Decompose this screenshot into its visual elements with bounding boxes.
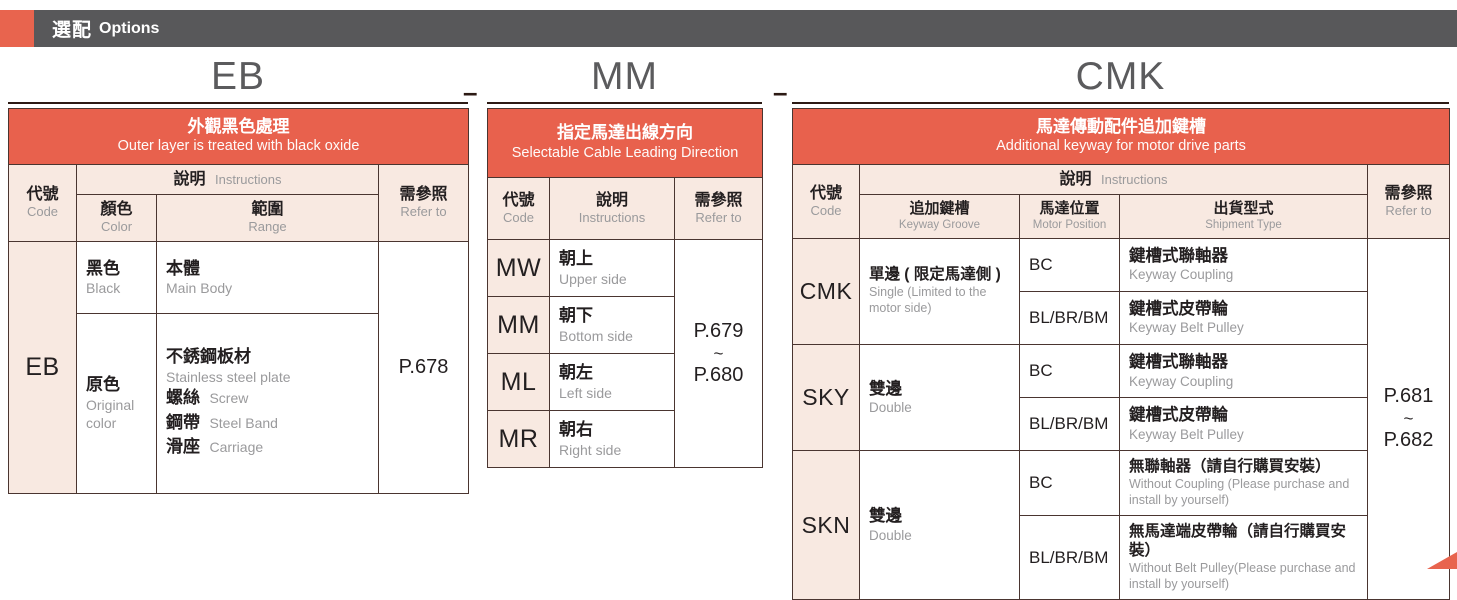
section-title-eb: EB xyxy=(8,52,468,102)
corner-triangle-decoration xyxy=(1427,552,1457,569)
table-row: MW 朝上 Upper side P.679 ~ P.680 xyxy=(488,240,763,297)
header-instructions-cjk: 說明 xyxy=(553,191,671,210)
header-keyway-groove: 追加鍵槽 Keyway Groove xyxy=(860,195,1020,238)
range-item-3: 滑座 Carriage xyxy=(166,436,369,460)
header-color-en: Color xyxy=(80,219,153,235)
range-item-1: 螺絲 Screw xyxy=(166,387,369,411)
table-mm-title-cjk: 指定馬達出線方向 xyxy=(492,122,758,143)
cell-motorpos-sky-bc: BC xyxy=(1020,345,1120,398)
table-eb-title-cjk: 外觀黑色處理 xyxy=(13,116,464,137)
cell-color-black: 黑色 Black xyxy=(77,241,157,313)
range-item-2-cjk: 鋼帶 xyxy=(166,413,200,432)
cell-keyway-cmk-en: Single (Limited to the motor side) xyxy=(869,285,1010,316)
header-motorpos-en: Motor Position xyxy=(1023,218,1116,232)
options-banner: 選配 Options xyxy=(0,10,1457,47)
header-shipment-en: Shipment Type xyxy=(1123,218,1364,232)
table-cmk-header-row-2: 追加鍵槽 Keyway Groove 馬達位置 Motor Position 出… xyxy=(793,195,1450,238)
header-code-en: Code xyxy=(491,210,546,226)
cell-direction-mw-en: Upper side xyxy=(559,270,665,288)
header-range-cjk: 範圍 xyxy=(160,200,375,219)
header-code: 代號 Code xyxy=(9,165,77,242)
table-eb: 外觀黑色處理 Outer layer is treated with black… xyxy=(8,108,468,468)
banner-title-cjk: 選配 xyxy=(52,15,92,42)
cell-shipment-sky-blbrbm-cjk: 鍵槽式皮帶輪 xyxy=(1129,405,1358,426)
cell-color-original-en: Original color xyxy=(86,396,147,432)
banner-title-en: Options xyxy=(99,20,159,38)
header-refer-cjk: 需參照 xyxy=(1371,184,1446,203)
cell-keyway-skn-cjk: 雙邊 xyxy=(869,506,1010,527)
cell-shipment-cmk-blbrbm-cjk: 鍵槽式皮帶輪 xyxy=(1129,299,1358,320)
header-refer-cjk: 需參照 xyxy=(678,191,759,210)
table-mm-title-row: 指定馬達出線方向 Selectable Cable Leading Direct… xyxy=(488,109,763,178)
cell-keyway-sky-en: Double xyxy=(869,399,1010,417)
cell-motorpos-cmk-blbrbm: BL/BR/BM xyxy=(1020,291,1120,344)
header-refer-en: Refer to xyxy=(678,210,759,226)
refer-from: P.679 xyxy=(694,320,744,342)
range-item-3-cjk: 滑座 xyxy=(166,437,200,456)
header-refer-to: 需參照 Refer to xyxy=(379,165,469,242)
header-instructions-en: Instructions xyxy=(215,172,281,187)
section-rule-eb xyxy=(8,102,468,104)
cell-shipment-cmk-bc: 鍵槽式聯軸器 Keyway Coupling xyxy=(1120,238,1368,291)
header-instructions-cjk: 說明 xyxy=(1060,171,1092,188)
header-refer-en: Refer to xyxy=(382,204,465,220)
table-eb-header-row-1: 代號 Code 說明 Instructions 需參照 Refer to xyxy=(9,165,469,195)
table-eb-title-en: Outer layer is treated with black oxide xyxy=(13,137,464,156)
cell-motorpos-sky-blbrbm: BL/BR/BM xyxy=(1020,398,1120,451)
separator-dash-1: – xyxy=(463,79,477,105)
header-motorpos-cjk: 馬達位置 xyxy=(1023,200,1116,218)
section-titles-row: EB – MM – CMK xyxy=(0,52,1457,104)
range-item-0-en: Stainless steel plate xyxy=(166,368,369,386)
cell-keyway-cmk-cjk: 單邊 ( 限定馬達側 ) xyxy=(869,266,1010,285)
cell-motorpos-skn-blbrbm: BL/BR/BM xyxy=(1020,516,1120,600)
header-instructions: 說明 Instructions xyxy=(77,165,379,195)
cell-shipment-sky-bc-cjk: 鍵槽式聯軸器 xyxy=(1129,352,1358,373)
cell-range-mainbody-en: Main Body xyxy=(166,279,369,297)
cell-direction-mr-cjk: 朝右 xyxy=(559,419,665,440)
cell-shipment-cmk-blbrbm-en: Keyway Belt Pulley xyxy=(1129,319,1358,337)
cell-refer-mm: P.679 ~ P.680 xyxy=(675,240,763,468)
refer-to: P.682 xyxy=(1384,429,1434,451)
range-item-2: 鋼帶 Steel Band xyxy=(166,412,369,436)
cell-shipment-sky-bc-en: Keyway Coupling xyxy=(1129,373,1358,391)
cell-keyway-sky-cjk: 雙邊 xyxy=(869,379,1010,400)
table-mm-header-row: 代號 Code 說明 Instructions 需參照 Refer to xyxy=(488,178,763,240)
header-code: 代號 Code xyxy=(793,165,860,239)
header-code-en: Code xyxy=(796,203,856,219)
banner-accent-block xyxy=(0,10,34,47)
table-cmk-title-cell: 馬達傳動配件追加鍵槽 Additional keyway for motor d… xyxy=(793,109,1450,165)
cell-motorpos-cmk-bc: BC xyxy=(1020,238,1120,291)
header-color: 顏色 Color xyxy=(77,195,157,241)
range-item-1-en: Screw xyxy=(209,390,248,406)
header-color-cjk: 顏色 xyxy=(80,200,153,219)
header-instructions: 說明 Instructions xyxy=(550,178,675,240)
cell-motorpos-skn-bc: BC xyxy=(1020,451,1120,516)
table-cmk-title-row: 馬達傳動配件追加鍵槽 Additional keyway for motor d… xyxy=(793,109,1450,165)
header-instructions-en: Instructions xyxy=(553,210,671,226)
range-item-1-cjk: 螺絲 xyxy=(166,388,200,407)
cell-color-black-en: Black xyxy=(86,279,147,297)
header-code: 代號 Code xyxy=(488,178,550,240)
header-refer-to: 需參照 Refer to xyxy=(1368,165,1450,239)
table-cmk: 馬達傳動配件追加鍵槽 Additional keyway for motor d… xyxy=(792,108,1449,560)
cell-code-ml: ML xyxy=(488,354,550,411)
cell-range-mainbody: 本體 Main Body xyxy=(157,241,379,313)
header-shipment-type: 出貨型式 Shipment Type xyxy=(1120,195,1368,238)
cell-direction-mm: 朝下 Bottom side xyxy=(550,297,675,354)
table-mm-title-en: Selectable Cable Leading Direction xyxy=(492,144,758,163)
cell-code-eb: EB xyxy=(9,241,77,493)
table-row: SKY 雙邊 Double BC 鍵槽式聯軸器 Keyway Coupling xyxy=(793,345,1450,398)
cell-shipment-skn-blbrbm: 無馬達端皮帶輪（請自行購買安裝） Without Belt Pulley(Ple… xyxy=(1120,516,1368,600)
cell-direction-ml-en: Left side xyxy=(559,384,665,402)
table-row: SKN 雙邊 Double BC 無聯軸器（請自行購買安裝） Without C… xyxy=(793,451,1450,516)
table-cmk-title-en: Additional keyway for motor drive parts xyxy=(797,137,1445,156)
cell-shipment-sky-blbrbm: 鍵槽式皮帶輪 Keyway Belt Pulley xyxy=(1120,398,1368,451)
cell-shipment-sky-blbrbm-en: Keyway Belt Pulley xyxy=(1129,426,1358,444)
cell-direction-mm-en: Bottom side xyxy=(559,327,665,345)
cell-shipment-cmk-blbrbm: 鍵槽式皮帶輪 Keyway Belt Pulley xyxy=(1120,291,1368,344)
cell-shipment-skn-bc: 無聯軸器（請自行購買安裝） Without Coupling (Please p… xyxy=(1120,451,1368,516)
header-instructions-cjk: 說明 xyxy=(174,171,206,188)
section-title-cmk: CMK xyxy=(792,52,1449,102)
refer-tilde: ~ xyxy=(1368,410,1449,427)
cell-keyway-cmk: 單邊 ( 限定馬達側 ) Single (Limited to the moto… xyxy=(860,238,1020,344)
header-refer-to: 需參照 Refer to xyxy=(675,178,763,240)
header-keyway-en: Keyway Groove xyxy=(863,218,1016,232)
header-motor-position: 馬達位置 Motor Position xyxy=(1020,195,1120,238)
range-item-2-en: Steel Band xyxy=(209,415,278,431)
table-mm: 指定馬達出線方向 Selectable Cable Leading Direct… xyxy=(487,108,762,468)
cell-direction-mr-en: Right side xyxy=(559,441,665,459)
table-eb-title-cell: 外觀黑色處理 Outer layer is treated with black… xyxy=(9,109,469,165)
table-row: CMK 單邊 ( 限定馬達側 ) Single (Limited to the … xyxy=(793,238,1450,291)
cell-code-sky: SKY xyxy=(793,345,860,451)
cell-color-black-cjk: 黑色 xyxy=(86,258,147,279)
refer-to: P.680 xyxy=(694,364,744,386)
header-instructions: 說明 Instructions xyxy=(860,165,1368,195)
cell-color-original: 原色 Original color xyxy=(77,313,157,493)
header-range: 範圍 Range xyxy=(157,195,379,241)
banner-bar: 選配 Options xyxy=(34,10,1457,47)
header-refer-en: Refer to xyxy=(1371,203,1446,219)
separator-dash-2: – xyxy=(773,79,787,105)
cell-direction-mw: 朝上 Upper side xyxy=(550,240,675,297)
cell-direction-ml-cjk: 朝左 xyxy=(559,362,665,383)
cell-keyway-skn: 雙邊 Double xyxy=(860,451,1020,600)
range-item-0-cjk: 不銹鋼板材 xyxy=(166,346,369,367)
cell-direction-mr: 朝右 Right side xyxy=(550,411,675,468)
section-title-mm: MM xyxy=(487,52,762,102)
header-range-en: Range xyxy=(160,219,375,235)
cell-color-original-cjk: 原色 xyxy=(86,374,147,395)
range-item-3-en: Carriage xyxy=(209,439,263,455)
header-code-cjk: 代號 xyxy=(12,185,73,204)
cell-keyway-sky: 雙邊 Double xyxy=(860,345,1020,451)
header-instructions-en: Instructions xyxy=(1101,172,1167,187)
table-eb-title-row: 外觀黑色處理 Outer layer is treated with black… xyxy=(9,109,469,165)
cell-range-list: 不銹鋼板材 Stainless steel plate 螺絲 Screw 鋼帶 … xyxy=(157,313,379,493)
cell-code-mr: MR xyxy=(488,411,550,468)
cell-code-mm: MM xyxy=(488,297,550,354)
header-shipment-cjk: 出貨型式 xyxy=(1123,200,1364,218)
cell-direction-mw-cjk: 朝上 xyxy=(559,248,665,269)
table-cmk-title-cjk: 馬達傳動配件追加鍵槽 xyxy=(797,116,1445,137)
cell-refer-eb: P.678 xyxy=(379,241,469,493)
cell-keyway-skn-en: Double xyxy=(869,527,1010,545)
section-rule-mm xyxy=(487,102,762,104)
cell-range-mainbody-cjk: 本體 xyxy=(166,258,369,279)
cell-shipment-sky-bc: 鍵槽式聯軸器 Keyway Coupling xyxy=(1120,345,1368,398)
table-mm-title-cell: 指定馬達出線方向 Selectable Cable Leading Direct… xyxy=(488,109,763,178)
cell-direction-mm-cjk: 朝下 xyxy=(559,305,665,326)
header-code-cjk: 代號 xyxy=(796,184,856,203)
cell-shipment-skn-bc-en: Without Coupling (Please purchase and in… xyxy=(1129,477,1358,508)
cell-code-cmk: CMK xyxy=(793,238,860,344)
refer-from: P.681 xyxy=(1384,385,1434,407)
refer-tilde: ~ xyxy=(675,345,762,362)
cell-shipment-cmk-bc-en: Keyway Coupling xyxy=(1129,266,1358,284)
section-rule-cmk xyxy=(792,102,1449,104)
table-row: EB 黑色 Black 本體 Main Body P.678 xyxy=(9,241,469,313)
cell-shipment-cmk-bc-cjk: 鍵槽式聯軸器 xyxy=(1129,246,1358,267)
cell-code-skn: SKN xyxy=(793,451,860,600)
cell-code-mw: MW xyxy=(488,240,550,297)
cell-shipment-skn-blbrbm-cjk: 無馬達端皮帶輪（請自行購買安裝） xyxy=(1129,523,1358,561)
header-code-cjk: 代號 xyxy=(491,191,546,210)
cell-direction-ml: 朝左 Left side xyxy=(550,354,675,411)
cell-shipment-skn-bc-cjk: 無聯軸器（請自行購買安裝） xyxy=(1129,458,1358,477)
header-refer-cjk: 需參照 xyxy=(382,185,465,204)
cell-refer-cmk: P.681 ~ P.682 xyxy=(1368,238,1450,599)
cell-shipment-skn-blbrbm-en: Without Belt Pulley(Please purchase and … xyxy=(1129,561,1358,592)
header-keyway-cjk: 追加鍵槽 xyxy=(863,200,1016,218)
table-cmk-header-row-1: 代號 Code 說明 Instructions 需參照 Refer to xyxy=(793,165,1450,195)
header-code-en: Code xyxy=(12,204,73,220)
